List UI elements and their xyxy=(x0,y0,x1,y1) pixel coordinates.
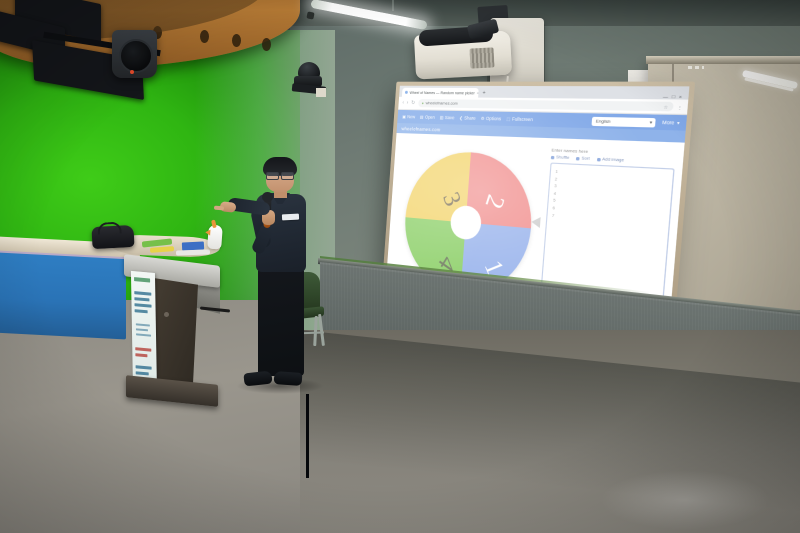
share-icon: ❮ xyxy=(459,115,463,120)
projector-vent-icon xyxy=(469,47,494,68)
sort-button[interactable]: Sort xyxy=(576,156,590,161)
reload-icon[interactable]: ↻ xyxy=(411,100,415,106)
toolbar-options-label: Options xyxy=(486,116,502,122)
floor-light-spot xyxy=(600,470,770,530)
browser-nav-buttons: ‹ › ↻ xyxy=(402,100,415,106)
chevron-down-icon: ▾ xyxy=(677,120,680,126)
presenter-legs xyxy=(258,266,304,376)
bookmark-star-icon[interactable]: ☆ xyxy=(663,103,668,109)
gear-icon: ⚙ xyxy=(481,116,485,121)
image-icon xyxy=(597,157,601,161)
figurine-beak-icon xyxy=(205,229,210,235)
fullscreen-icon: ⬚ xyxy=(506,116,510,121)
glasses-icon xyxy=(266,172,294,178)
light-hanger xyxy=(392,0,394,11)
toolbar-options-button[interactable]: ⚙ Options xyxy=(481,116,502,122)
whiteboard-marks xyxy=(688,66,704,69)
studio-news-desk xyxy=(0,247,126,340)
podium-control-knob[interactable] xyxy=(164,312,169,317)
shuffle-icon xyxy=(551,155,555,158)
presenter-shoe xyxy=(274,371,303,386)
toolbar-share-button[interactable]: ❮ Share xyxy=(459,115,476,121)
lock-icon: ● xyxy=(422,101,424,105)
app-brand-label: wheelofnames.com xyxy=(401,126,441,132)
address-bar-url: wheelofnames.com xyxy=(425,101,457,106)
close-window-icon[interactable]: × xyxy=(679,94,683,100)
browser-menu-icon[interactable]: ⋮ xyxy=(677,104,683,110)
wheel-hub[interactable] xyxy=(449,205,482,241)
speaker-cone-icon xyxy=(119,39,153,73)
wall-camera xyxy=(292,62,326,98)
toolbar-open-button[interactable]: ▤ Open xyxy=(420,114,435,119)
chevron-down-icon: ▾ xyxy=(649,119,652,125)
microphone-head-icon xyxy=(262,192,273,202)
close-icon[interactable]: × xyxy=(477,91,479,95)
whiteboard-top-rail xyxy=(646,56,800,64)
wheel-segment-label: 2 xyxy=(480,192,508,212)
classroom-photo-scene: EPSON Wheel of Names — Random name picke… xyxy=(0,0,800,533)
new-tab-button[interactable]: + xyxy=(480,90,488,97)
favicon-icon xyxy=(405,91,408,94)
add-image-label: Add image xyxy=(602,157,624,163)
omnibox-icons: ☆ xyxy=(663,103,668,109)
shuffle-button[interactable]: Shuffle xyxy=(551,155,570,160)
lectern-podium xyxy=(128,268,216,400)
language-select-value: English xyxy=(596,119,611,124)
toolbar-fullscreen-label: Fullscreen xyxy=(512,116,533,122)
toolbar-spacer xyxy=(539,120,587,121)
browser-tab[interactable]: Wheel of Names — Random name picker × xyxy=(402,88,479,98)
camera-bag xyxy=(91,225,134,249)
add-image-button[interactable]: Add image xyxy=(597,157,625,163)
toolbar-share-label: Share xyxy=(464,115,476,121)
sort-icon xyxy=(576,156,580,160)
forward-icon[interactable]: › xyxy=(407,100,409,106)
back-icon[interactable]: ‹ xyxy=(402,100,404,106)
camera-wall-plate xyxy=(316,88,326,97)
sort-label: Sort xyxy=(581,156,590,161)
shuffle-label: Shuffle xyxy=(556,155,570,160)
maximize-icon[interactable]: □ xyxy=(672,93,676,99)
toolbar-new-button[interactable]: ▣ New xyxy=(402,114,415,119)
wheel-pointer-icon xyxy=(531,216,541,228)
new-icon: ▣ xyxy=(402,114,406,119)
tube-end-cap xyxy=(306,11,314,19)
bag-handle xyxy=(97,222,122,235)
toolbar-open-label: Open xyxy=(425,114,435,119)
presenter-name-badge xyxy=(282,214,299,221)
presenter-pointing-finger xyxy=(214,206,224,211)
save-icon: ▥ xyxy=(440,115,444,120)
ceiling-speaker xyxy=(112,30,157,78)
minimize-icon[interactable]: — xyxy=(663,93,669,99)
desk-figurine xyxy=(207,225,223,250)
toolbar-fullscreen-button[interactable]: ⬚ Fullscreen xyxy=(506,116,533,122)
more-menu-label: More xyxy=(662,119,675,125)
language-select[interactable]: English ▾ xyxy=(592,116,656,127)
presenter-leg-gap xyxy=(306,394,309,478)
window-controls: — □ × xyxy=(663,93,685,99)
more-menu-button[interactable]: More ▾ xyxy=(662,119,680,125)
address-bar[interactable]: ● wheelofnames.com ☆ xyxy=(418,99,674,111)
toolbar-save-label: Save xyxy=(445,115,455,120)
browser-tab-title: Wheel of Names — Random name picker xyxy=(410,90,475,95)
toolbar-save-button[interactable]: ▥ Save xyxy=(440,115,455,121)
speaker-led-icon xyxy=(130,70,134,74)
toolbar-new-label: New xyxy=(407,114,415,119)
presenter xyxy=(230,160,326,410)
open-icon: ▤ xyxy=(420,114,424,119)
